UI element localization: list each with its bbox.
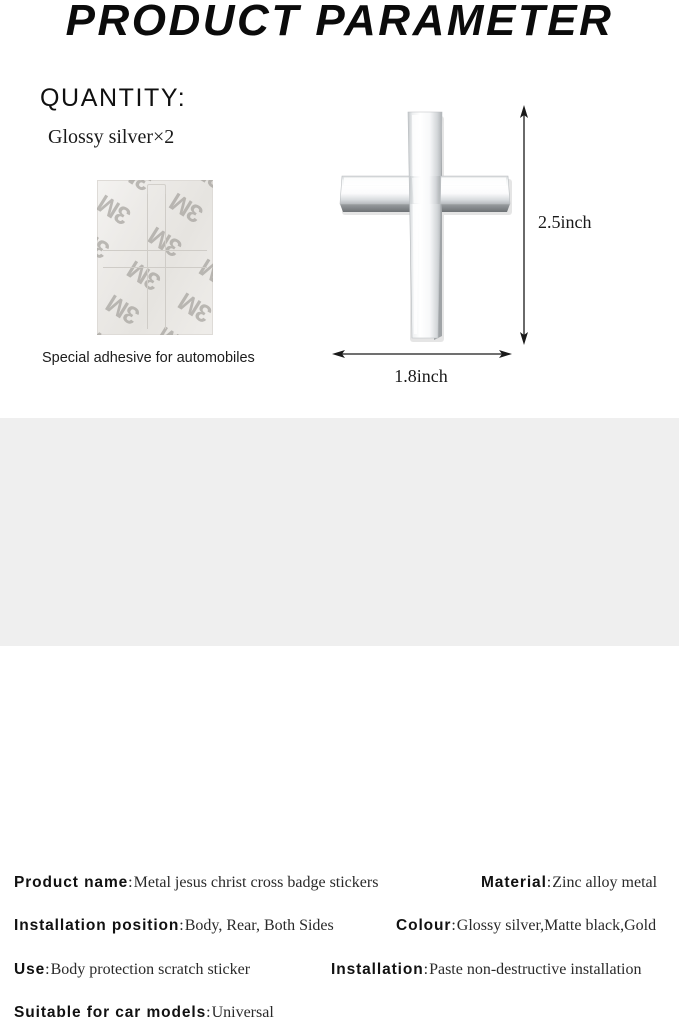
quantity-heading: QUANTITY: (40, 84, 186, 113)
width-dimension-label: 1.8inch (332, 366, 510, 387)
spec-label: Material (481, 874, 547, 892)
spec-value: Universal (212, 1004, 274, 1022)
spec-row-product-name: Product name : Metal jesus christ cross … (14, 874, 378, 892)
brand-logo-text: 3M (97, 188, 136, 230)
spec-value: Body protection scratch sticker (51, 961, 251, 979)
brand-logo-text: 3M (174, 286, 213, 328)
spec-label: Installation (331, 961, 424, 979)
spec-label: Colour (396, 917, 451, 935)
spec-row-installation-position: Installation position : Body, Rear, Both… (14, 917, 334, 935)
pad-pull-tab (147, 184, 166, 194)
cross-badge-graphic (330, 100, 520, 350)
spec-label: Use (14, 961, 45, 979)
spec-row-use: Use : Body protection scratch sticker (14, 961, 250, 979)
adhesive-caption: Special adhesive for automobiles (42, 350, 255, 366)
spec-row-suitable-car-models: Suitable for car models : Universal (14, 1004, 274, 1022)
adhesive-pad-surface: 3M 3M 3M 3M 3M 3M 3M 3M 3M 3M 3M 3M 3M 3… (97, 180, 213, 335)
quantity-value: Glossy silver×2 (48, 126, 174, 149)
brand-logo-text: 3M (101, 288, 144, 330)
height-dimension-arrow (512, 105, 536, 345)
pad-diecut-horizontal (103, 250, 207, 268)
spec-value: Glossy silver,Matte black,Gold (457, 917, 656, 935)
spec-value: Zinc alloy metal (552, 874, 657, 892)
spec-row-installation: Installation : Paste non-destructive ins… (331, 961, 641, 979)
height-dimension-label: 2.5inch (538, 212, 592, 233)
product-parameter-infographic: PRODUCT PARAMETER QUANTITY: Glossy silve… (0, 0, 679, 646)
brand-logo-text: 3M (165, 186, 208, 228)
specifications-band: Product name : Metal jesus christ cross … (0, 418, 679, 646)
cross-badge-image (330, 100, 520, 350)
adhesive-pad-image: 3M 3M 3M 3M 3M 3M 3M 3M 3M 3M 3M 3M 3M 3… (97, 180, 213, 335)
spec-value: Paste non-destructive installation (429, 961, 641, 979)
spec-label: Suitable for car models (14, 1004, 206, 1022)
spec-label: Installation position (14, 917, 179, 935)
spec-value: Body, Rear, Both Sides (185, 917, 334, 935)
spec-row-material: Material : Zinc alloy metal (481, 874, 657, 892)
page-title: PRODUCT PARAMETER (0, 0, 679, 44)
spec-label: Product name (14, 874, 128, 892)
spec-value: Metal jesus christ cross badge stickers (134, 874, 379, 892)
spec-row-colour: Colour : Glossy silver,Matte black,Gold (396, 917, 656, 935)
width-dimension-arrow (332, 344, 512, 364)
